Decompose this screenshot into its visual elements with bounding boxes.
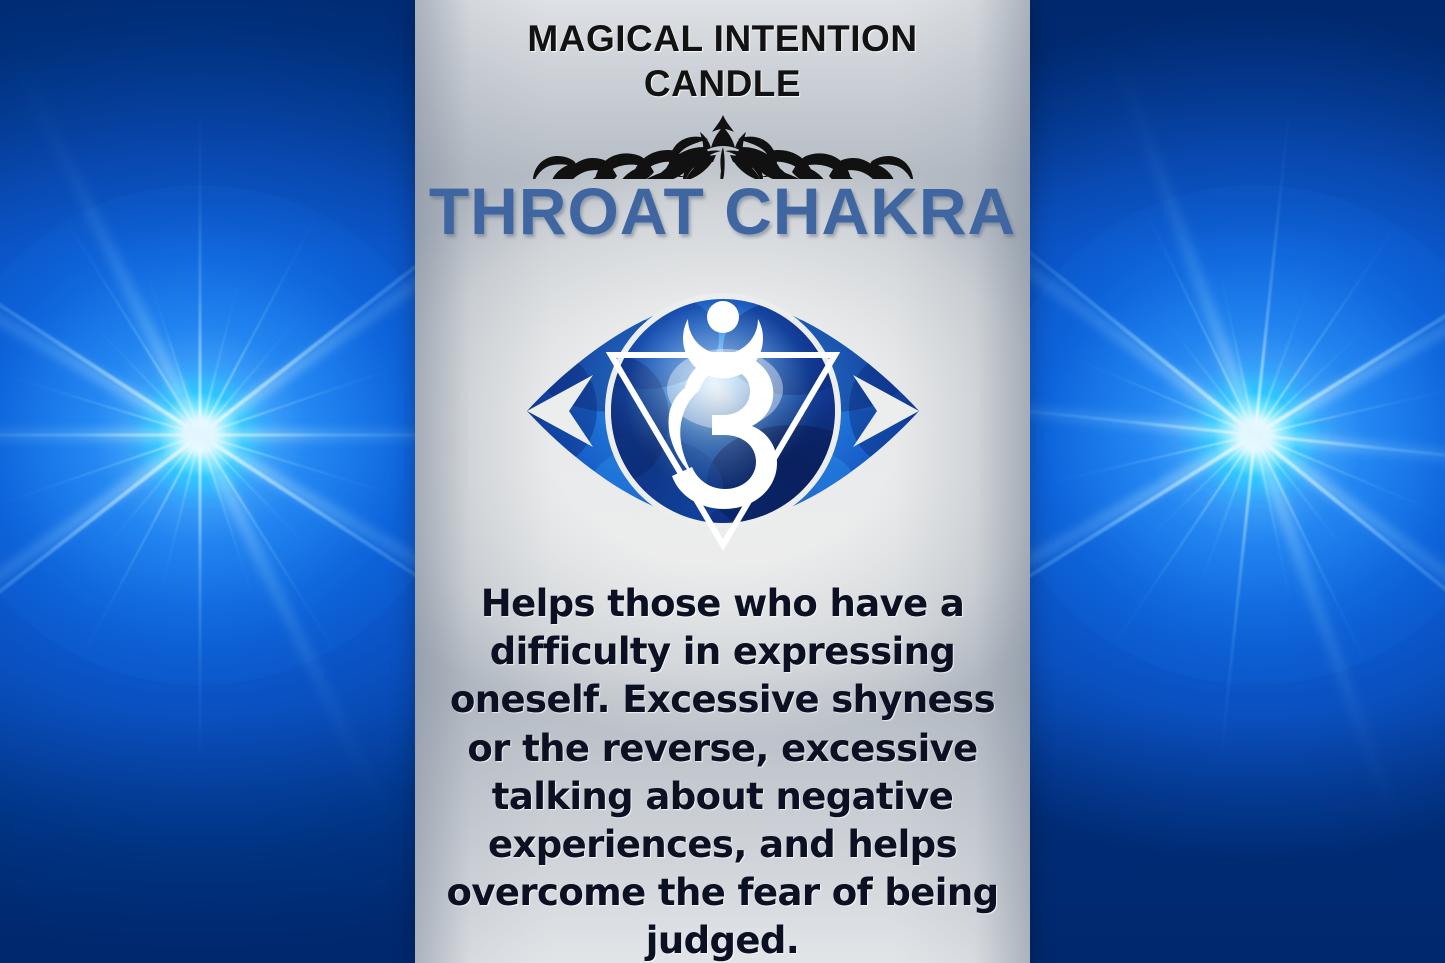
label-header: MAGICAL INTENTION CANDLE	[415, 0, 1030, 106]
label-image-stage: MAGICAL INTENTION CANDLE	[0, 0, 1445, 963]
product-label-card: MAGICAL INTENTION CANDLE	[415, 0, 1030, 963]
ornamental-flourish-divider-icon	[415, 112, 1030, 180]
header-line-1: MAGICAL INTENTION	[415, 16, 1030, 61]
throat-chakra-vishuddha-symbol-icon	[415, 266, 1030, 556]
page-title: THROAT CHAKRA	[415, 178, 1030, 244]
product-description: Helps those who have a difficulty in exp…	[415, 580, 1030, 963]
bindu-dot-icon	[707, 301, 739, 333]
header-line-2: CANDLE	[415, 61, 1030, 106]
